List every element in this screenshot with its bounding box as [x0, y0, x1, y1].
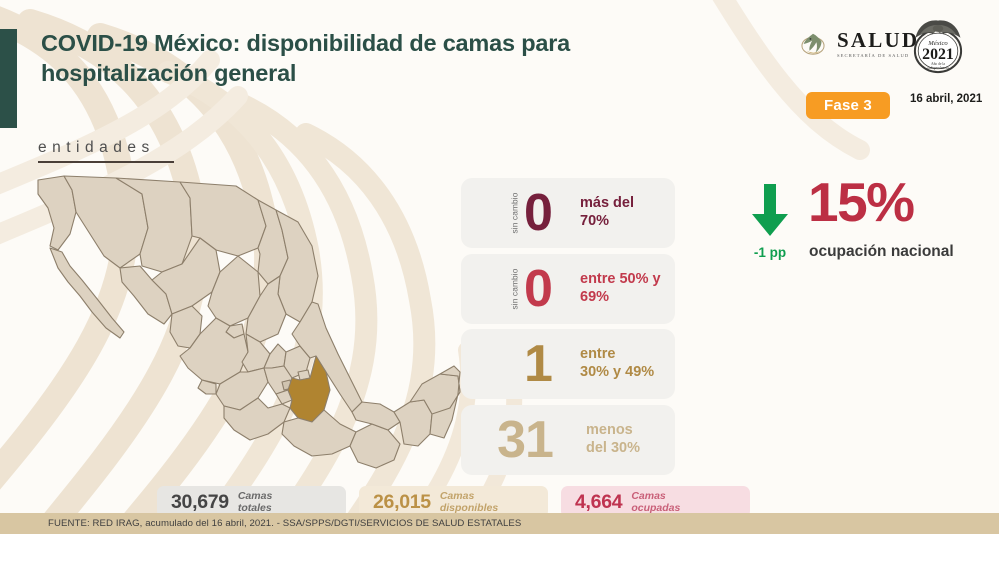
- slide-root: COVID-19 México: disponibilidad de camas…: [0, 0, 999, 562]
- arrow-down-icon: [747, 182, 793, 240]
- occupancy-category-list: sin cambio 0 más del 70% sin cambio 0 en…: [461, 178, 675, 480]
- svg-text:Año de la: Año de la: [931, 62, 945, 66]
- category-row-less-than-30[interactable]: 31 menos del 30%: [461, 405, 675, 475]
- change-label: sin cambio: [510, 268, 520, 309]
- eagle-emblem-icon: [796, 27, 830, 61]
- bed-label: Camas disponibles: [440, 490, 498, 515]
- category-count: 31: [473, 414, 577, 466]
- mexico-choropleth-map[interactable]: [20, 172, 462, 484]
- category-label-line1: entre: [580, 346, 654, 364]
- salud-logo: SALUD SECRETARÍA DE SALUD: [796, 27, 919, 61]
- accent-bar: [0, 29, 17, 128]
- category-label-line2: 69%: [580, 289, 661, 307]
- bed-label: Camas totales: [238, 490, 272, 515]
- bed-count: 30,679: [171, 491, 229, 514]
- entidades-heading: entidades: [38, 139, 174, 163]
- svg-text:Independencia: Independencia: [927, 66, 949, 70]
- trend-value: -1 pp: [739, 245, 801, 260]
- change-label: sin cambio: [510, 192, 520, 233]
- national-occupancy-percent: 15%: [808, 175, 914, 230]
- bed-label: Camas ocupadas: [631, 490, 680, 515]
- bed-count: 26,015: [373, 491, 431, 514]
- page-title: COVID-19 México: disponibilidad de camas…: [41, 28, 661, 88]
- bed-label-line1: Camas: [238, 490, 272, 502]
- entidades-label: entidades: [38, 139, 174, 157]
- category-label-line1: entre 50% y: [580, 271, 661, 289]
- category-label: más del 70%: [580, 195, 634, 230]
- category-row-more-than-70[interactable]: sin cambio 0 más del 70%: [461, 178, 675, 248]
- category-count: 1: [505, 338, 571, 390]
- national-occupancy-label: ocupación nacional: [809, 243, 954, 261]
- entidades-underline: [38, 161, 174, 163]
- category-label-line2: 30% y 49%: [580, 364, 654, 382]
- category-row-50-to-69[interactable]: sin cambio 0 entre 50% y 69%: [461, 254, 675, 324]
- mexico-2021-seal-icon: México 2021 Año de la Independencia: [905, 14, 971, 80]
- phase-badge: Fase 3: [806, 92, 890, 119]
- report-date: 16 abril, 2021: [910, 92, 990, 107]
- bed-label-line1: Camas: [440, 490, 498, 502]
- category-row-30-to-49[interactable]: 1 entre 30% y 49%: [461, 329, 675, 399]
- category-label-line1: menos: [586, 422, 640, 440]
- bottom-strip: [0, 534, 999, 562]
- footer-band: FUENTE: RED IRAG, acumulado del 16 abril…: [0, 513, 999, 534]
- category-label-line2: 70%: [580, 213, 634, 231]
- national-trend: -1 pp: [739, 182, 801, 260]
- category-label: menos del 30%: [586, 422, 640, 457]
- category-label-line2: del 30%: [586, 440, 640, 458]
- category-label: entre 30% y 49%: [580, 346, 654, 381]
- bed-count: 4,664: [575, 491, 622, 514]
- category-label: entre 50% y 69%: [580, 271, 661, 306]
- svg-text:2021: 2021: [922, 46, 954, 63]
- bed-label-line1: Camas: [631, 490, 680, 502]
- footer-source: FUENTE: RED IRAG, acumulado del 16 abril…: [48, 518, 521, 529]
- category-label-line1: más del: [580, 195, 634, 213]
